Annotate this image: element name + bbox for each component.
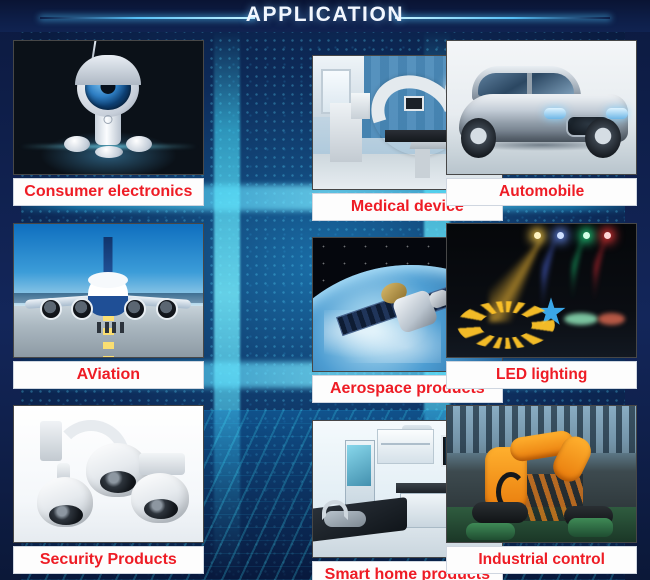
thumbnail-automobile (446, 40, 637, 175)
application-grid: Consumer electronics Medical device (0, 32, 650, 580)
au-headlight-right (606, 108, 629, 120)
au-pillar (527, 73, 532, 96)
ind-machine-green-1 (466, 523, 515, 539)
page-title: APPLICATION (0, 3, 650, 27)
ind-machine-green-2 (568, 518, 613, 537)
sec-arm-3 (139, 453, 185, 475)
thumbnail-led-lighting (446, 223, 637, 358)
av-engine-2 (71, 298, 93, 320)
application-banner: APPLICATION Consumer electronics (0, 0, 650, 580)
grid-cell-aviation[interactable]: AViation (0, 215, 217, 398)
led-source-yellow (534, 232, 541, 239)
label-aviation: AViation (13, 361, 204, 389)
label-industrial-control: Industrial control (446, 546, 637, 574)
grid-cell-industrial-control[interactable]: Industrial control (433, 397, 650, 580)
ind-robot-base (472, 502, 529, 524)
av-landing-gear-3 (112, 322, 116, 333)
header-bar: APPLICATION (0, 0, 650, 32)
sec-lens-1 (100, 471, 136, 493)
au-wheel-rear (461, 118, 497, 158)
av-nose (88, 272, 128, 288)
grid-cell-security-products[interactable]: Security Products (0, 397, 217, 580)
thumbnail-aviation (13, 223, 204, 358)
grid-cell-consumer-electronics[interactable]: Consumer electronics (0, 32, 217, 215)
led-source-blue (557, 232, 564, 239)
thumbnail-industrial-control (446, 405, 637, 543)
led-beam-red (594, 234, 636, 311)
label-security-products: Security Products (13, 546, 204, 574)
led-floor-pool-red (598, 313, 624, 325)
md-monitor (404, 96, 425, 112)
thumbnail-security-products (13, 405, 204, 543)
led-floor-pool-green (564, 313, 598, 325)
label-consumer-electronics: Consumer electronics (13, 178, 204, 206)
label-automobile: Automobile (446, 178, 637, 206)
sh-upper-cabinet (377, 429, 434, 464)
sh-fridge-glass-door (347, 445, 372, 486)
au-wheel-front (585, 118, 621, 158)
au-headlight-left (544, 108, 567, 120)
md-equipment-cart-2 (351, 93, 370, 120)
av-landing-gear-4 (120, 322, 124, 333)
grid-cell-automobile[interactable]: Automobile (433, 32, 650, 215)
grid-cell-led-lighting[interactable]: LED lighting (433, 215, 650, 398)
av-runway-centerline (103, 314, 114, 357)
av-landing-gear-1 (97, 322, 101, 333)
sh-shelf (381, 443, 430, 445)
led-ring-projection (457, 301, 555, 349)
sec-lens-3 (144, 499, 178, 519)
av-landing-gear-2 (105, 322, 109, 333)
thumbnail-consumer-electronics (13, 40, 204, 175)
ce-button (104, 115, 113, 124)
led-source-green (583, 232, 590, 239)
md-table-base (415, 149, 430, 178)
label-led-lighting: LED lighting (446, 361, 637, 389)
led-source-red (604, 232, 611, 239)
